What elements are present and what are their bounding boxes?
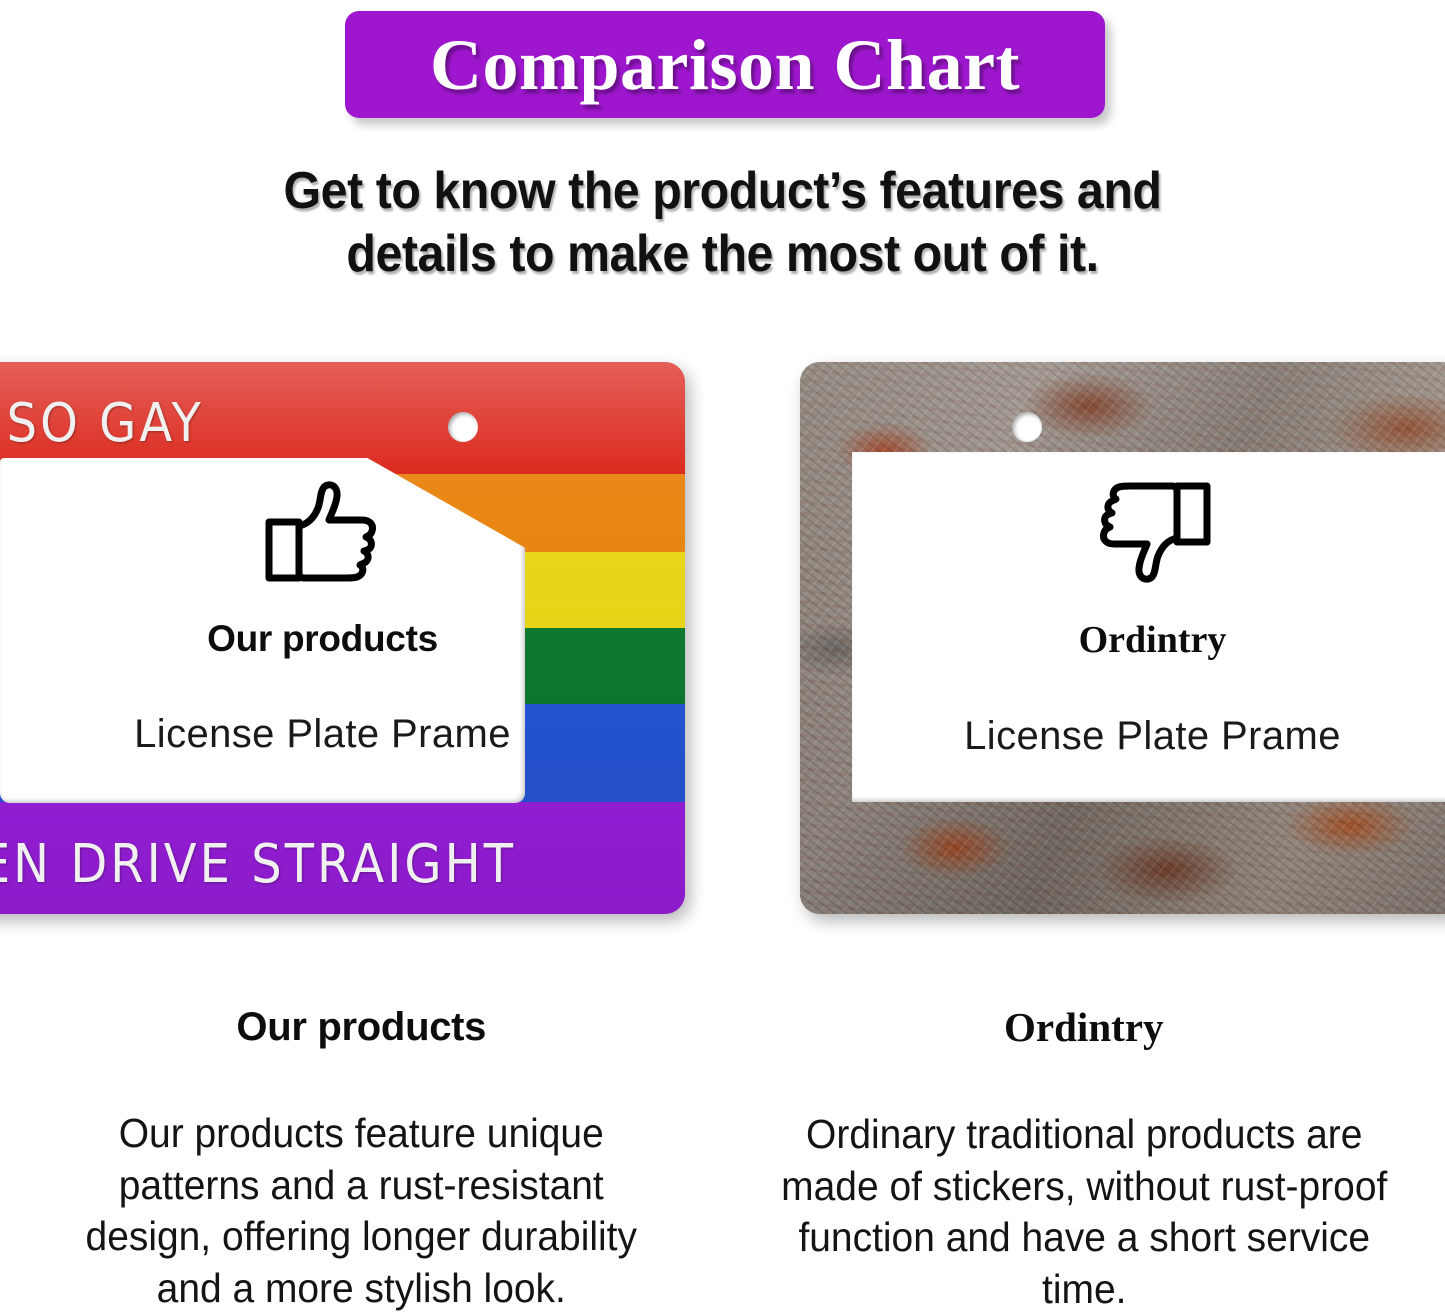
- subtitle-line-1: Get to know the product’s features and: [51, 160, 1395, 223]
- frame-slogan-bottom: VEN DRIVE STRAIGHT: [0, 833, 516, 896]
- ordinary-product-column-heading: Ordintry: [761, 1003, 1408, 1051]
- thumbs-down-icon: [1094, 480, 1212, 584]
- comparison-chart-banner: Comparison Chart: [345, 11, 1105, 118]
- ordinary-product-description-column: Ordintry Ordinary traditional products a…: [723, 985, 1445, 1314]
- our-product-name: License Plate Prame: [60, 712, 585, 757]
- comparison-description-row: Our products Our products feature unique…: [0, 985, 1445, 1314]
- mounting-hole-right: [1012, 412, 1042, 442]
- ordinary-product-brand-label: Ordintry: [860, 618, 1445, 662]
- ordinary-product-name: License Plate Prame: [860, 714, 1445, 759]
- thumbs-up-icon: [264, 480, 382, 584]
- our-product-description: Our products feature unique patterns and…: [54, 1108, 668, 1315]
- ordinary-product-description: Ordinary traditional products are made o…: [777, 1109, 1391, 1316]
- frame-slogan-top: M SO GAY: [0, 392, 204, 455]
- page-title: Comparison Chart: [430, 29, 1020, 101]
- our-product-window-content: Our products License Plate Prame: [60, 480, 585, 757]
- ordinary-product-window-content: Ordintry License Plate Prame: [860, 480, 1445, 759]
- our-product-brand-label: Our products: [60, 618, 585, 660]
- our-product-description-column: Our products Our products feature unique…: [0, 985, 723, 1314]
- our-product-column-heading: Our products: [38, 1005, 685, 1050]
- subtitle-line-2: details to make the most out of it.: [51, 223, 1395, 286]
- page-subtitle: Get to know the product’s features and d…: [51, 160, 1395, 287]
- mounting-hole-left: [448, 412, 478, 442]
